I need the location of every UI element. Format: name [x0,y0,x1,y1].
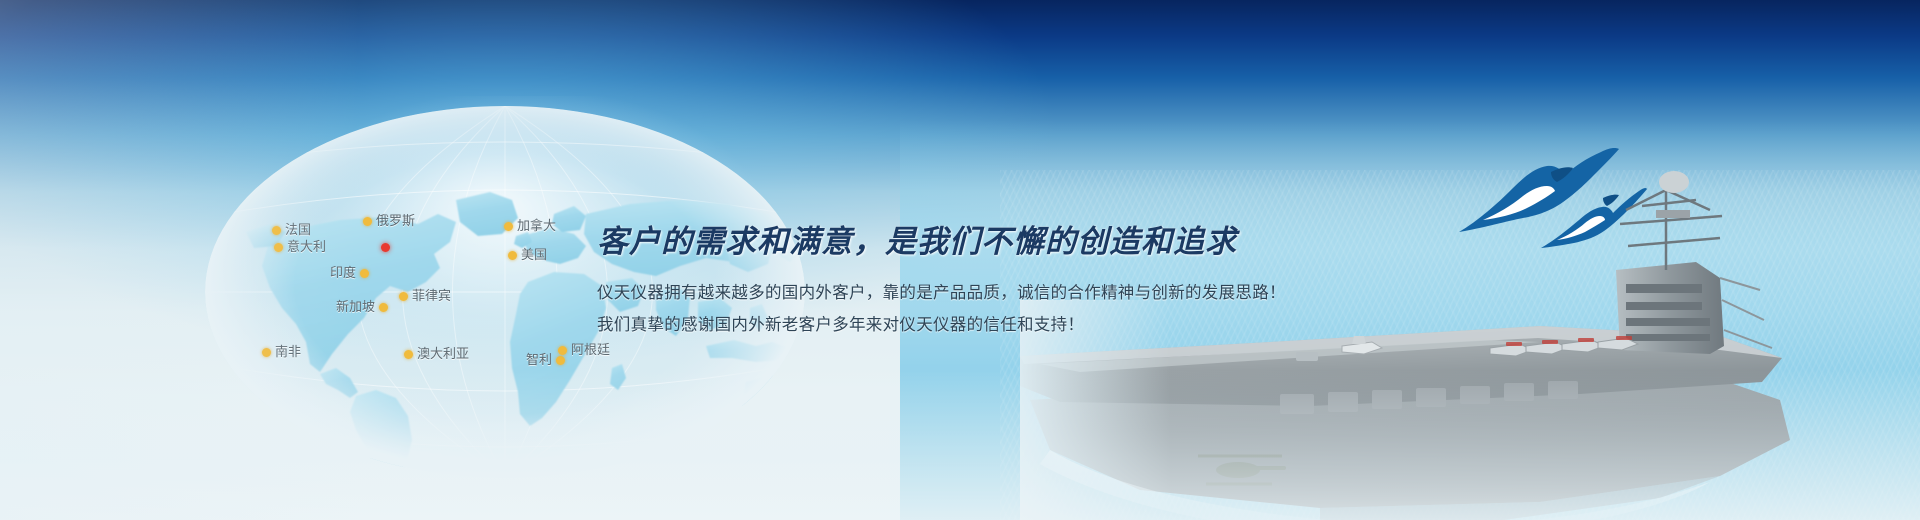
map-pin-dot-icon [381,243,390,252]
carrier-deck-antennas [1720,278,1772,348]
map-pin-0: 法国 [272,224,311,237]
carrier-mast [1620,184,1722,270]
map-pin-4: 美国 [508,249,547,262]
banner-copy-block: 客户的需求和满意，是我们不懈的创造和追求 仪天仪器拥有越来越多的国内外客户，靠的… [597,225,1517,341]
map-pin-dot-icon [558,346,567,355]
map-pin-1: 意大利 [274,241,326,254]
map-pin-label: 澳大利亚 [417,348,469,361]
map-pin-label: 意大利 [287,241,326,254]
map-pin-label: 俄罗斯 [376,215,415,228]
banner-headline: 客户的需求和满意，是我们不懈的创造和追求 [597,225,1517,261]
map-pin-dot-icon [262,348,271,357]
map-pin-dot-icon [404,350,413,359]
map-pin-home [381,243,390,252]
map-pin-5: 印度 [330,267,369,280]
map-pin-3: 加拿大 [504,220,556,233]
map-pin-label: 阿根廷 [571,344,610,357]
map-pin-dot-icon [274,243,283,252]
map-pin-2: 俄罗斯 [363,215,415,228]
map-pin-12: 阿根廷 [558,344,610,357]
hero-banner: 法国意大利俄罗斯加拿大美国印度菲律宾新加坡南非澳大利亚智利阿根廷 [0,0,1920,520]
carrier-radar-dome [1659,171,1689,193]
map-pin-dot-icon [379,303,388,312]
map-pin-dot-icon [272,226,281,235]
map-pin-label: 加拿大 [517,220,556,233]
map-pin-dot-icon [508,251,517,260]
map-pin-dot-icon [504,222,513,231]
map-pin-label: 南非 [275,346,301,359]
map-pin-label: 菲律宾 [412,290,451,303]
map-pin-10: 澳大利亚 [404,348,469,361]
banner-subline-1: 仪天仪器拥有越来越多的国内外客户，靠的是产品品质，诚信的合作精神与创新的发展思路… [597,277,1517,309]
map-pin-label: 印度 [330,267,356,280]
map-pin-8: 新加坡 [336,301,388,314]
map-pin-label: 智利 [526,354,552,367]
map-pin-dot-icon [360,269,369,278]
map-pin-7: 菲律宾 [399,290,451,303]
map-pin-dot-icon [556,356,565,365]
banner-subline-2: 我们真挚的感谢国内外新老客户多年来对仪天仪器的信任和支持！ [597,309,1517,341]
carrier-radar-panel [1656,210,1690,218]
map-pin-dot-icon [399,292,408,301]
map-pin-label: 美国 [521,249,547,262]
map-pin-label: 新加坡 [336,301,375,314]
map-pin-9: 南非 [262,346,301,359]
map-pin-dot-icon [363,217,372,226]
map-pin-label: 法国 [285,224,311,237]
